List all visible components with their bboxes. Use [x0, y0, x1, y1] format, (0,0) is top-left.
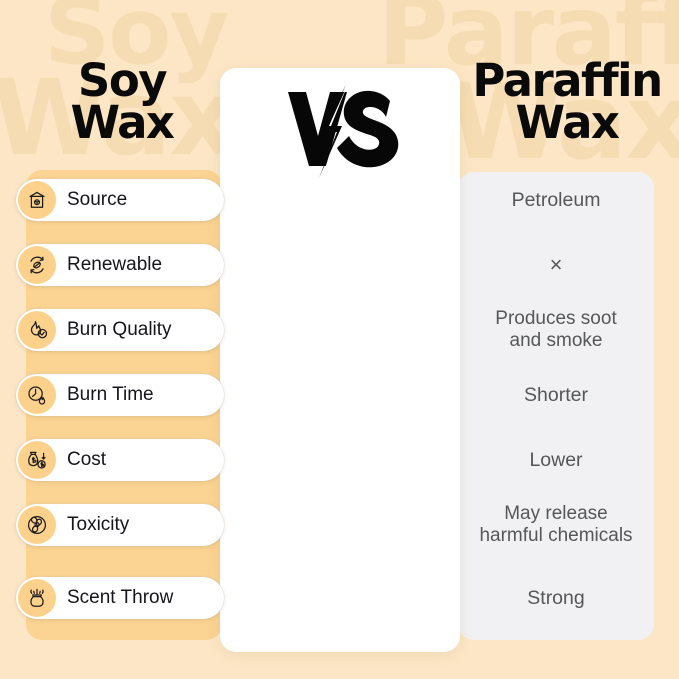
paraffin-value-toxicity: May release harmful chemicals	[458, 502, 654, 548]
page-title-soy-wax: Soy Wax	[24, 60, 220, 145]
feature-label: Burn Time	[67, 384, 154, 406]
feature-pill-burn-time[interactable]: Burn Time	[16, 374, 224, 416]
feature-pill-cost[interactable]: Cost	[16, 439, 224, 481]
biohazard-icon	[18, 506, 56, 544]
feature-card	[220, 68, 460, 652]
paraffin-value-cost: Lower	[458, 437, 654, 483]
sack-of-beans-icon	[18, 181, 56, 219]
paraffin-value-renewable: ×	[458, 242, 654, 288]
infographic-canvas: Soy Wax Paraffin Wax Soy Wax Paraffin Wa…	[0, 0, 679, 679]
paraffin-values-panel: Petroleum×Produces soot and smokeShorter…	[458, 172, 654, 640]
feature-label: Toxicity	[67, 514, 129, 536]
feature-label: Renewable	[67, 254, 162, 276]
recycle-leaf-icon	[18, 246, 56, 284]
feature-label: Source	[67, 189, 127, 211]
feature-pill-toxicity[interactable]: Toxicity	[16, 504, 224, 546]
paraffin-value-burn-time: Shorter	[458, 372, 654, 418]
feature-pill-source[interactable]: Source	[16, 179, 224, 221]
feature-label: Cost	[67, 449, 106, 471]
paraffin-value-source: Petroleum	[458, 177, 654, 223]
flame-check-icon	[18, 311, 56, 349]
money-bag-icon	[18, 441, 56, 479]
feature-pill-burn-quality[interactable]: Burn Quality	[16, 309, 224, 351]
vs-logo	[220, 84, 460, 178]
paraffin-value-burn-quality: Produces soot and smoke	[458, 307, 654, 353]
clock-flame-icon	[18, 376, 56, 414]
feature-pill-renewable[interactable]: Renewable	[16, 244, 224, 286]
page-title-paraffin-wax: Paraffin Wax	[460, 60, 674, 145]
feature-pill-scent-throw[interactable]: Scent Throw	[16, 577, 224, 619]
feature-label: Burn Quality	[67, 319, 172, 341]
scented-sachet-icon	[18, 579, 56, 617]
feature-label: Scent Throw	[67, 587, 173, 609]
paraffin-value-scent-throw: Strong	[458, 575, 654, 621]
